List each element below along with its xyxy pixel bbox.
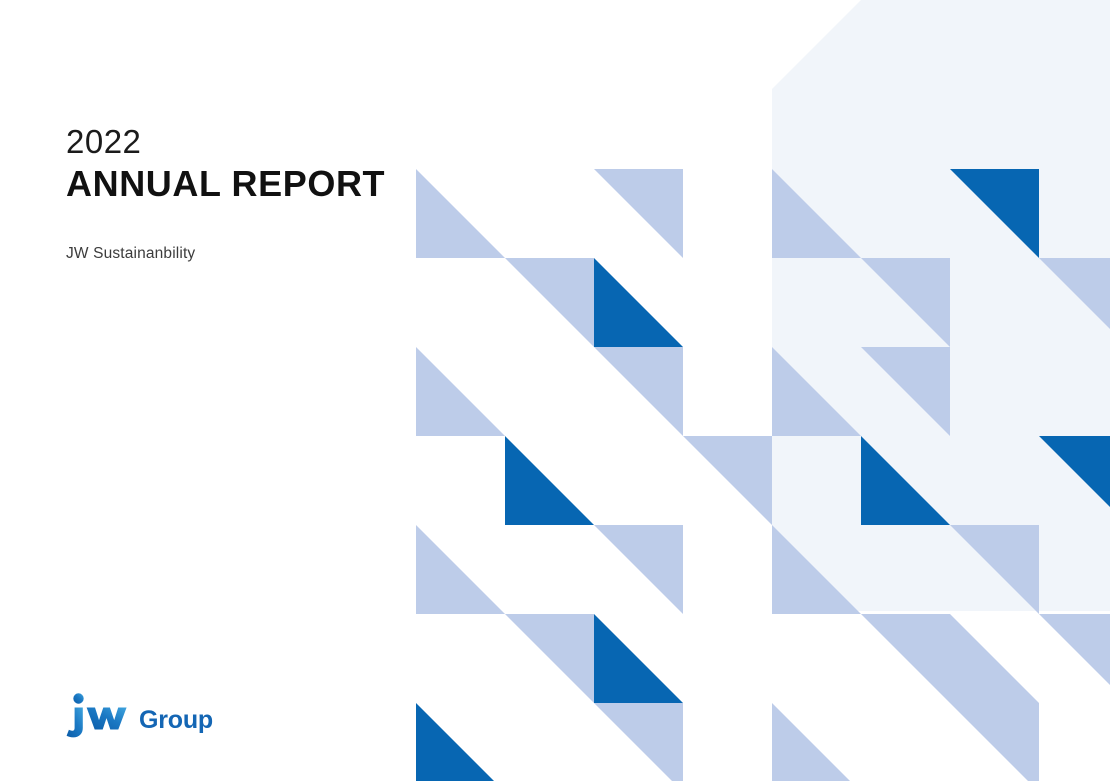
- pattern-triangle: [1039, 258, 1110, 347]
- cover-text-block: 2022 ANNUAL REPORT JW Sustainanbility: [66, 124, 385, 263]
- cover-subtitle: JW Sustainanbility: [66, 245, 385, 263]
- pattern-triangle: [772, 703, 861, 781]
- pattern-triangle: [505, 436, 594, 525]
- pattern-triangle: [861, 258, 950, 347]
- pattern-triangle: [861, 347, 950, 436]
- pattern-triangle: [861, 614, 950, 703]
- panel-tint-shape: [772, 0, 1110, 611]
- pattern-triangle: [950, 169, 1039, 258]
- pattern-triangle: [505, 258, 594, 347]
- pattern-triangle: [505, 614, 594, 703]
- pattern-triangle: [1039, 436, 1110, 525]
- jw-logo-icon: [66, 691, 130, 739]
- brand-logo-text: Group: [139, 708, 213, 733]
- pattern-triangle: [416, 347, 505, 436]
- pattern-triangle: [950, 614, 1039, 703]
- pattern-triangle: [594, 169, 683, 258]
- pattern-triangle: [594, 614, 683, 703]
- pattern-triangle: [772, 169, 861, 258]
- pattern-triangle: [594, 258, 683, 347]
- pattern-triangle: [594, 525, 683, 614]
- annual-report-cover-page: 2022 ANNUAL REPORT JW Sustainanbility Gr…: [0, 0, 1110, 781]
- pattern-triangle: [772, 347, 861, 436]
- pattern-triangle: [416, 703, 505, 781]
- pattern-triangle: [683, 436, 772, 525]
- pattern-triangle: [772, 525, 861, 614]
- triangle-cells: [416, 169, 1110, 781]
- pattern-triangle: [950, 703, 1039, 781]
- pattern-triangle: [416, 169, 505, 258]
- pattern-triangle: [594, 703, 683, 781]
- pattern-triangle: [416, 525, 505, 614]
- pattern-triangle: [950, 525, 1039, 614]
- triangle-pattern-graphic: [0, 0, 1110, 781]
- cover-year: 2022: [66, 124, 385, 161]
- page-title: ANNUAL REPORT: [66, 163, 385, 205]
- pattern-triangle: [1039, 614, 1110, 703]
- pattern-triangle: [594, 347, 683, 436]
- pattern-triangle: [861, 436, 950, 525]
- brand-logo: Group: [66, 691, 213, 739]
